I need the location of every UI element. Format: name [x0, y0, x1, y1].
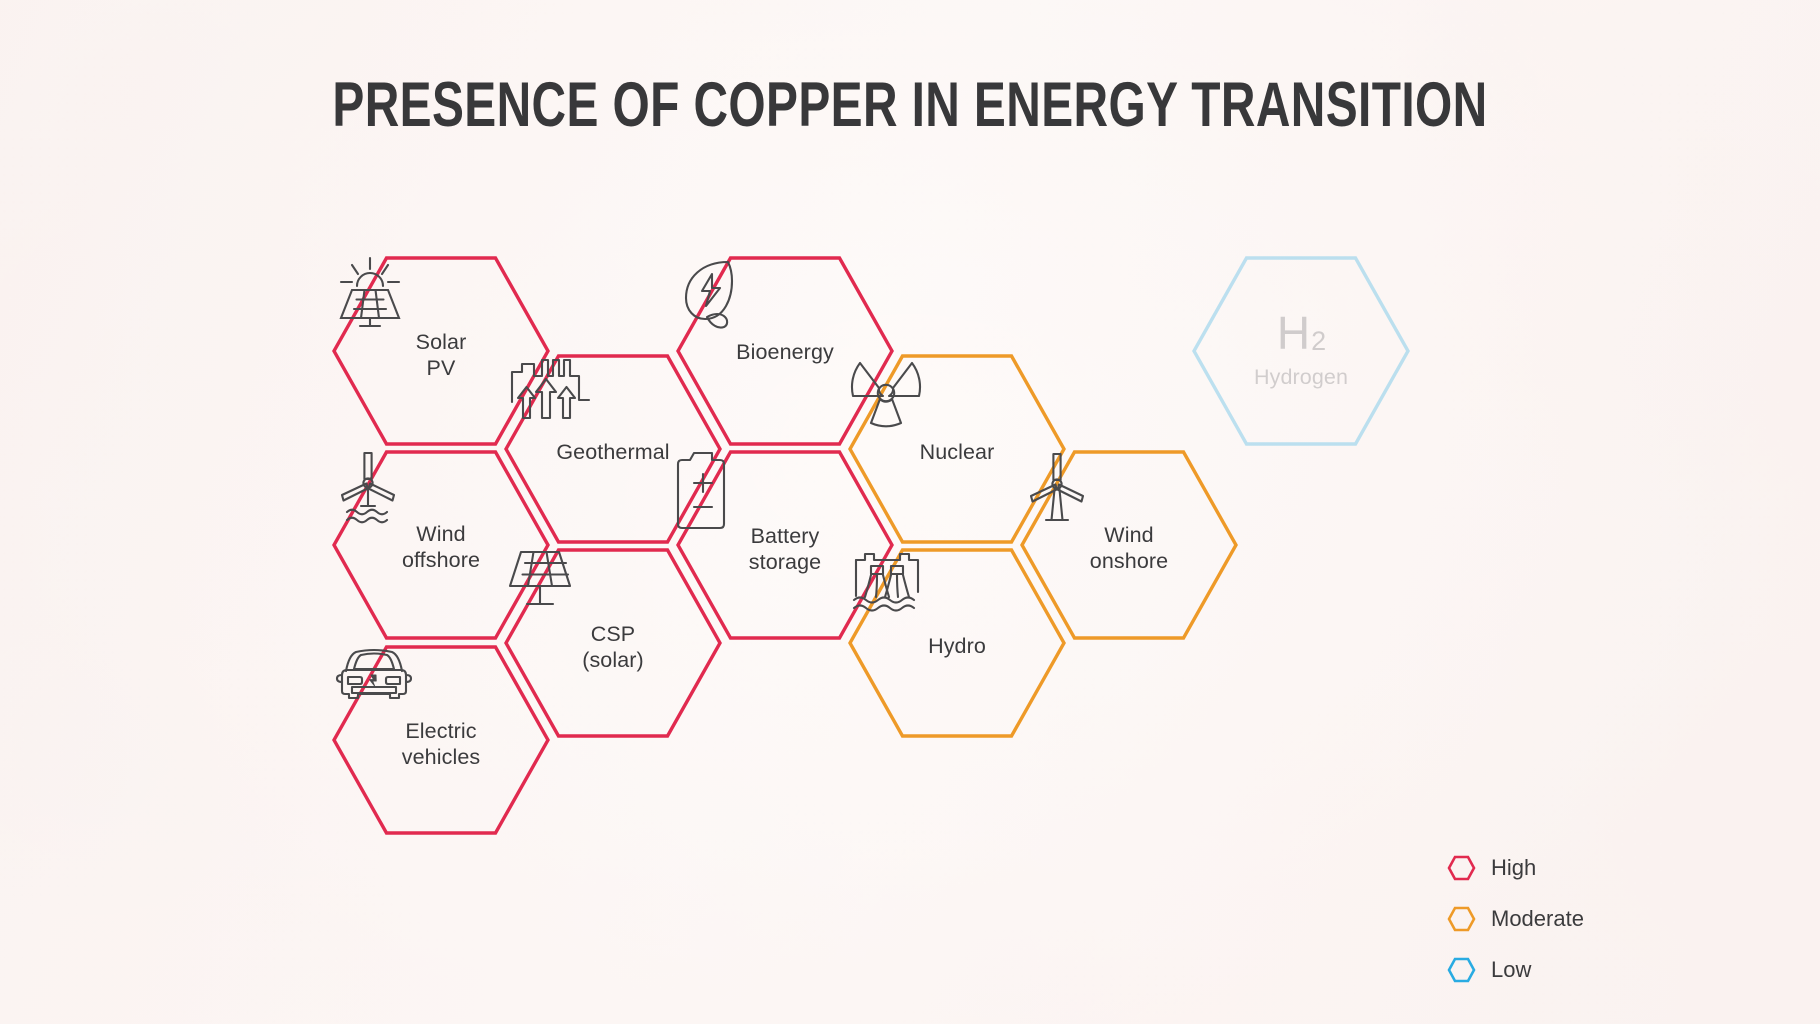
hexagon-label: Bioenergy	[736, 340, 834, 365]
legend-label: Low	[1491, 957, 1531, 983]
legend-hexagon-high	[1447, 855, 1476, 881]
hexagon-label: CSP (solar)	[582, 622, 644, 672]
h2-symbol: H	[1277, 310, 1310, 356]
hexagon-label: Wind offshore	[402, 522, 480, 572]
page-title: PRESENCE OF COPPER IN ENERGY TRANSITION	[218, 74, 1601, 137]
legend: High Moderate Low	[1447, 846, 1584, 992]
legend-item-high[interactable]: High	[1447, 846, 1584, 890]
hexagon-label: Solar PV	[416, 330, 467, 380]
hexagon-hydrogen[interactable]: H2 Hydrogen	[1192, 256, 1410, 446]
legend-hexagon-moderate	[1447, 906, 1476, 932]
hexagon-label: Nuclear	[920, 440, 995, 465]
legend-item-moderate[interactable]: Moderate	[1447, 897, 1584, 941]
legend-label: Moderate	[1491, 906, 1584, 932]
legend-item-low[interactable]: Low	[1447, 948, 1584, 992]
hexagon-label: Hydro	[928, 634, 986, 659]
hexagon-label: Battery storage	[749, 524, 821, 574]
h2-text-icon: H2	[1277, 310, 1325, 356]
hexagon-label: Wind onshore	[1090, 523, 1168, 573]
legend-hexagon-low	[1447, 957, 1476, 983]
hexagon-label: Geothermal	[556, 440, 669, 465]
infographic-stage: PRESENCE OF COPPER IN ENERGY TRANSITION	[0, 0, 1820, 1024]
hexagon-label: Hydrogen	[1254, 365, 1348, 390]
legend-label: High	[1491, 855, 1536, 881]
hexagon-wind-onshore[interactable]: Wind onshore	[1020, 450, 1238, 640]
h2-subscript: 2	[1311, 328, 1326, 355]
hexagon-label: Electric vehicles	[402, 719, 480, 769]
